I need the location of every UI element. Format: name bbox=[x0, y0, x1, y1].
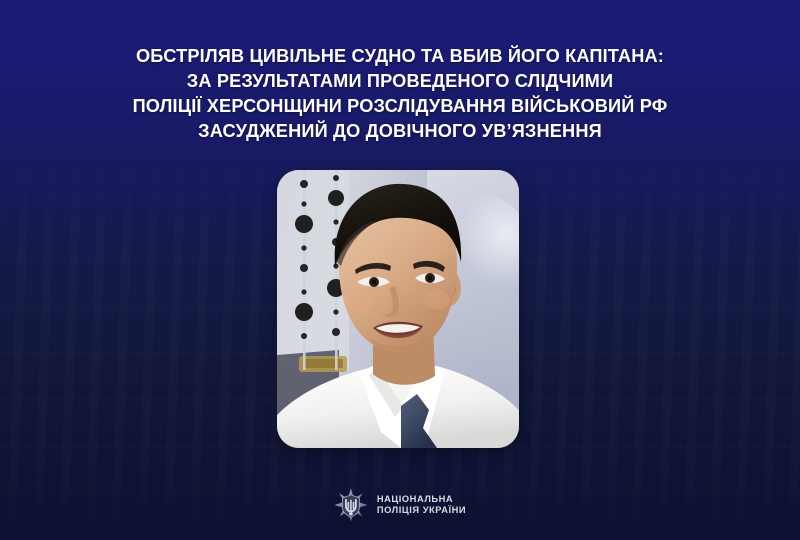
police-logo-line-1: НАЦІОНАЛЬНА bbox=[377, 494, 466, 505]
police-star-trident-icon bbox=[334, 488, 368, 522]
news-banner: ОБСТРІЛЯВ ЦИВІЛЬНЕ СУДНО ТА ВБИВ ЙОГО КА… bbox=[0, 0, 800, 540]
police-logo-line-2: ПОЛІЦІЯ УКРАЇНИ bbox=[377, 505, 466, 516]
portrait-photo bbox=[277, 170, 519, 448]
headline-line-2: ЗА РЕЗУЛЬТАТАМИ ПРОВЕДЕНОГО СЛІДЧИМИ bbox=[0, 69, 800, 94]
portrait-illustration bbox=[277, 170, 519, 448]
police-logo-text: НАЦІОНАЛЬНА ПОЛІЦІЯ УКРАЇНИ bbox=[377, 494, 466, 517]
headline-line-4: ЗАСУДЖЕНИЙ ДО ДОВІЧНОГО УВ’ЯЗНЕННЯ bbox=[0, 119, 800, 144]
police-logo: НАЦІОНАЛЬНА ПОЛІЦІЯ УКРАЇНИ bbox=[334, 488, 466, 522]
headline: ОБСТРІЛЯВ ЦИВІЛЬНЕ СУДНО ТА ВБИВ ЙОГО КА… bbox=[0, 44, 800, 144]
headline-line-1: ОБСТРІЛЯВ ЦИВІЛЬНЕ СУДНО ТА ВБИВ ЙОГО КА… bbox=[0, 44, 800, 69]
headline-line-3: ПОЛІЦІЇ ХЕРСОНЩИНИ РОЗСЛІДУВАННЯ ВІЙСЬКО… bbox=[0, 94, 800, 119]
